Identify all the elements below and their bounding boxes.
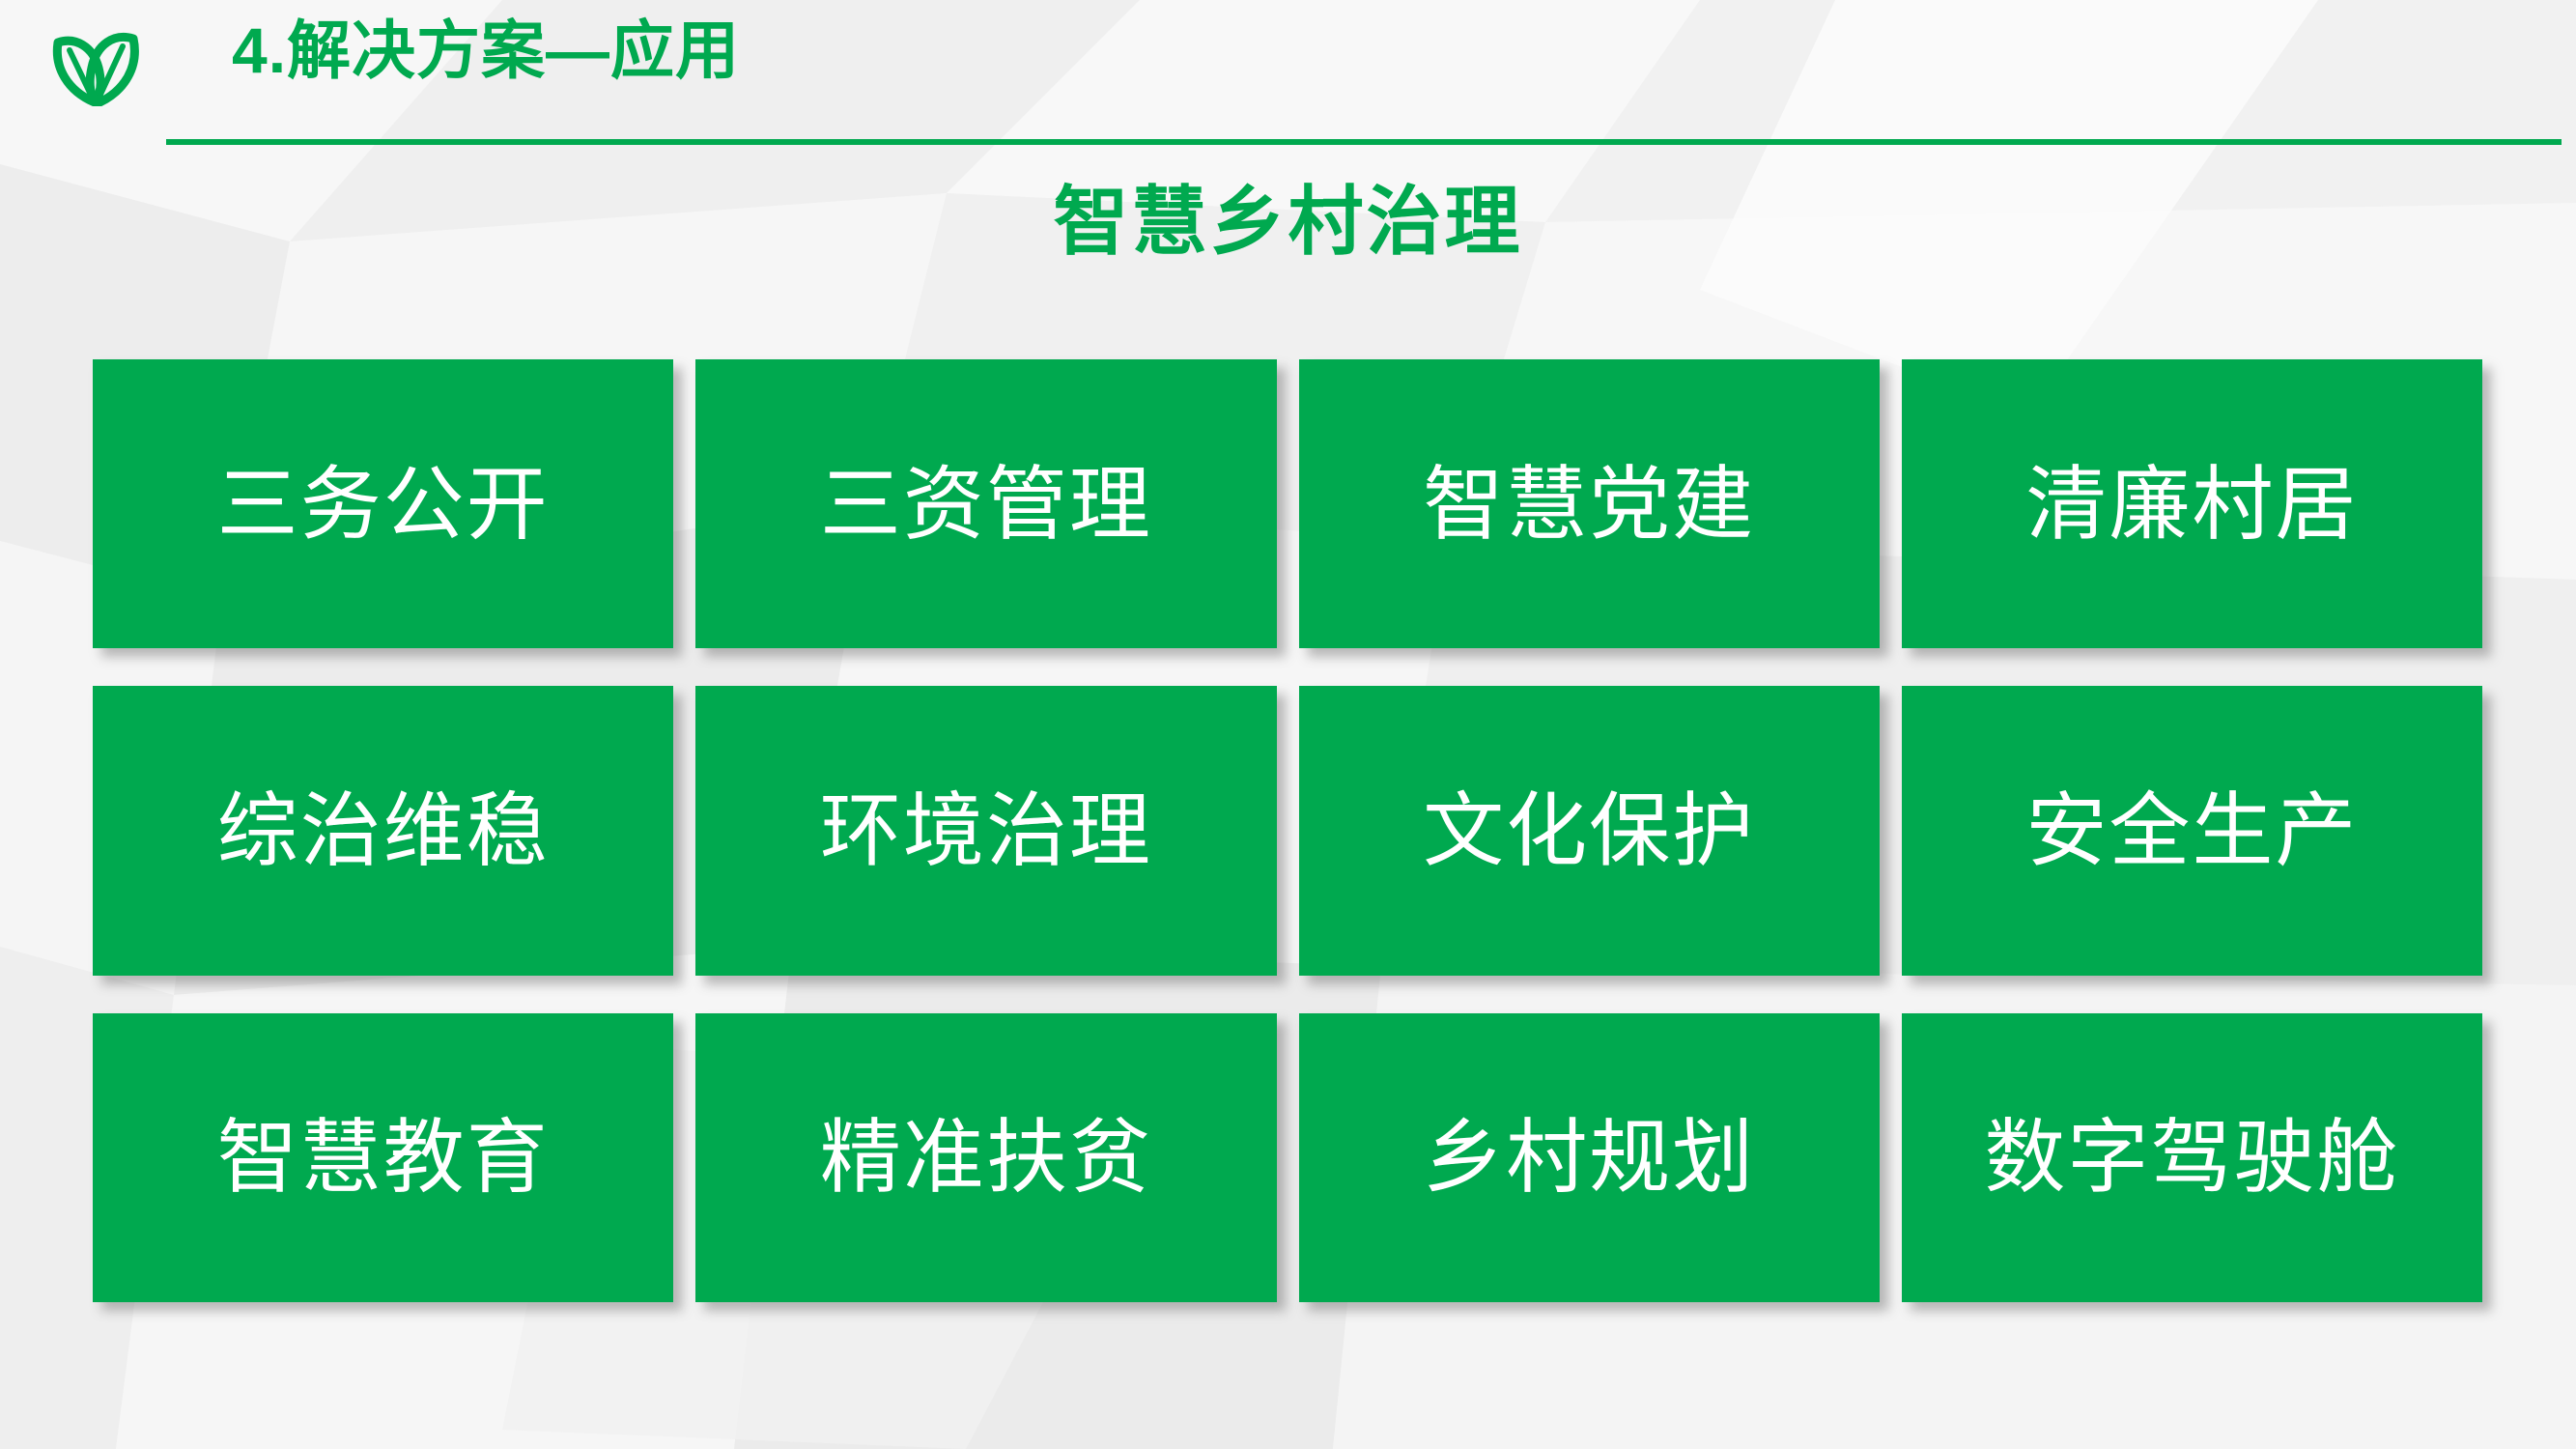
tile-huanjing-zhili[interactable]: 环境治理 [695,686,1276,975]
tile-label: 文化保护 [1423,790,1755,871]
tile-qinglian-cunju[interactable]: 清廉村居 [1902,359,2482,648]
tile-label: 智慧党建 [1423,464,1755,545]
tile-label: 精准扶贫 [820,1117,1152,1198]
tile-label: 综治维稳 [217,790,550,871]
leaf-pair-icon [46,14,147,106]
tile-label: 乡村规划 [1423,1117,1755,1198]
tile-zhihui-dangjian[interactable]: 智慧党建 [1299,359,1880,648]
tile-xiangcun-guihua[interactable]: 乡村规划 [1299,1013,1880,1302]
tile-zhihui-jiaoyu[interactable]: 智慧教育 [93,1013,673,1302]
tile-zongzhi-weiwen[interactable]: 综治维稳 [93,686,673,975]
tile-label: 数字驾驶舱 [1984,1117,2399,1198]
tile-label: 安全生产 [2025,790,2358,871]
tile-shuzi-jiashicang[interactable]: 数字驾驶舱 [1902,1013,2482,1302]
tile-label: 三务公开 [217,464,550,545]
tile-sanwu-gongkai[interactable]: 三务公开 [93,359,673,648]
tile-label: 环境治理 [820,790,1152,871]
tile-wenhua-baohu[interactable]: 文化保护 [1299,686,1880,975]
page-title: 4.解决方案—应用 [232,17,740,84]
header-divider [166,139,2562,145]
tile-jingzhun-fupin[interactable]: 精准扶贫 [695,1013,1276,1302]
tile-label: 三资管理 [820,464,1152,545]
section-subtitle: 智慧乡村治理 [0,180,2576,264]
application-tile-grid: 三务公开 三资管理 智慧党建 清廉村居 综治维稳 环境治理 文化保护 安全生产 … [93,359,2482,1302]
slide-header: 4.解决方案—应用 [0,0,2576,155]
tile-anquan-shengchan[interactable]: 安全生产 [1902,686,2482,975]
tile-sanzi-guanli[interactable]: 三资管理 [695,359,1276,648]
tile-label: 清廉村居 [2025,464,2358,545]
tile-label: 智慧教育 [217,1117,550,1198]
